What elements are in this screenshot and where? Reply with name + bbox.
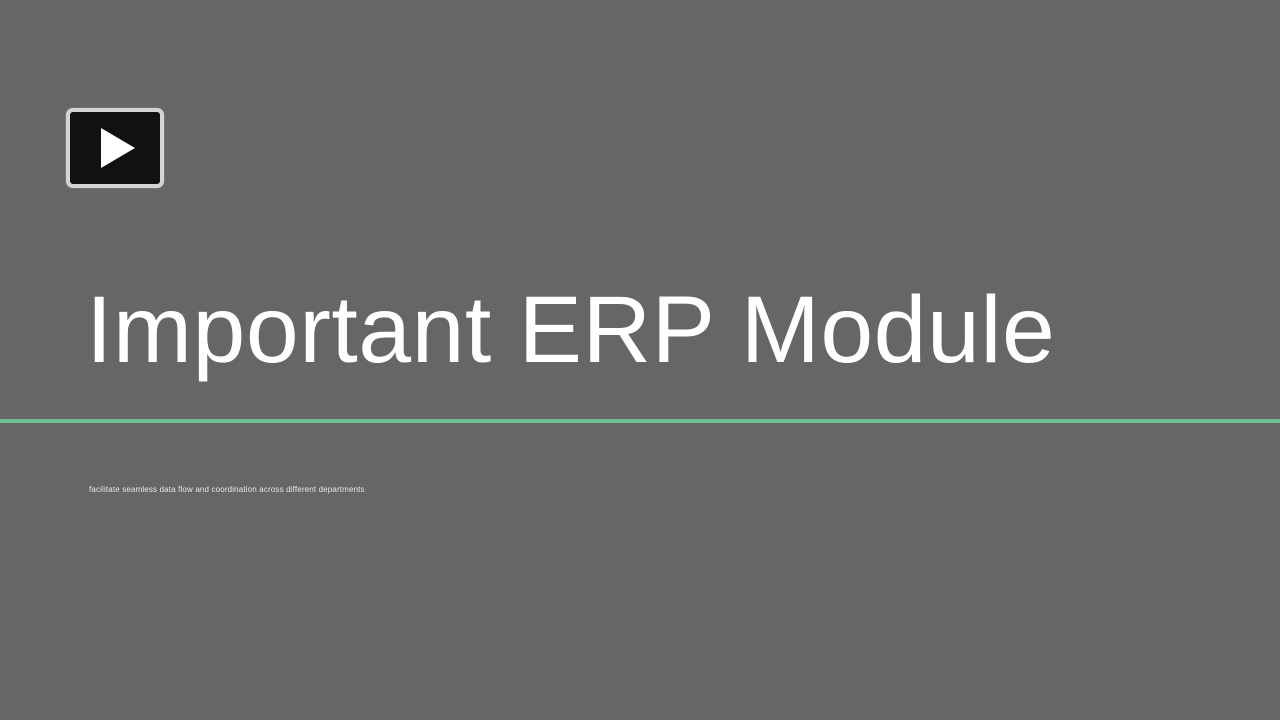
video-placeholder[interactable] bbox=[66, 108, 164, 188]
slide-subtitle: facilitate seamless data flow and coordi… bbox=[89, 485, 1089, 495]
presentation-slide: Important ERP Module facilitate seamless… bbox=[0, 0, 1280, 720]
play-icon bbox=[101, 128, 135, 168]
page-title: Important ERP Module bbox=[86, 281, 1206, 381]
accent-divider bbox=[0, 419, 1280, 423]
